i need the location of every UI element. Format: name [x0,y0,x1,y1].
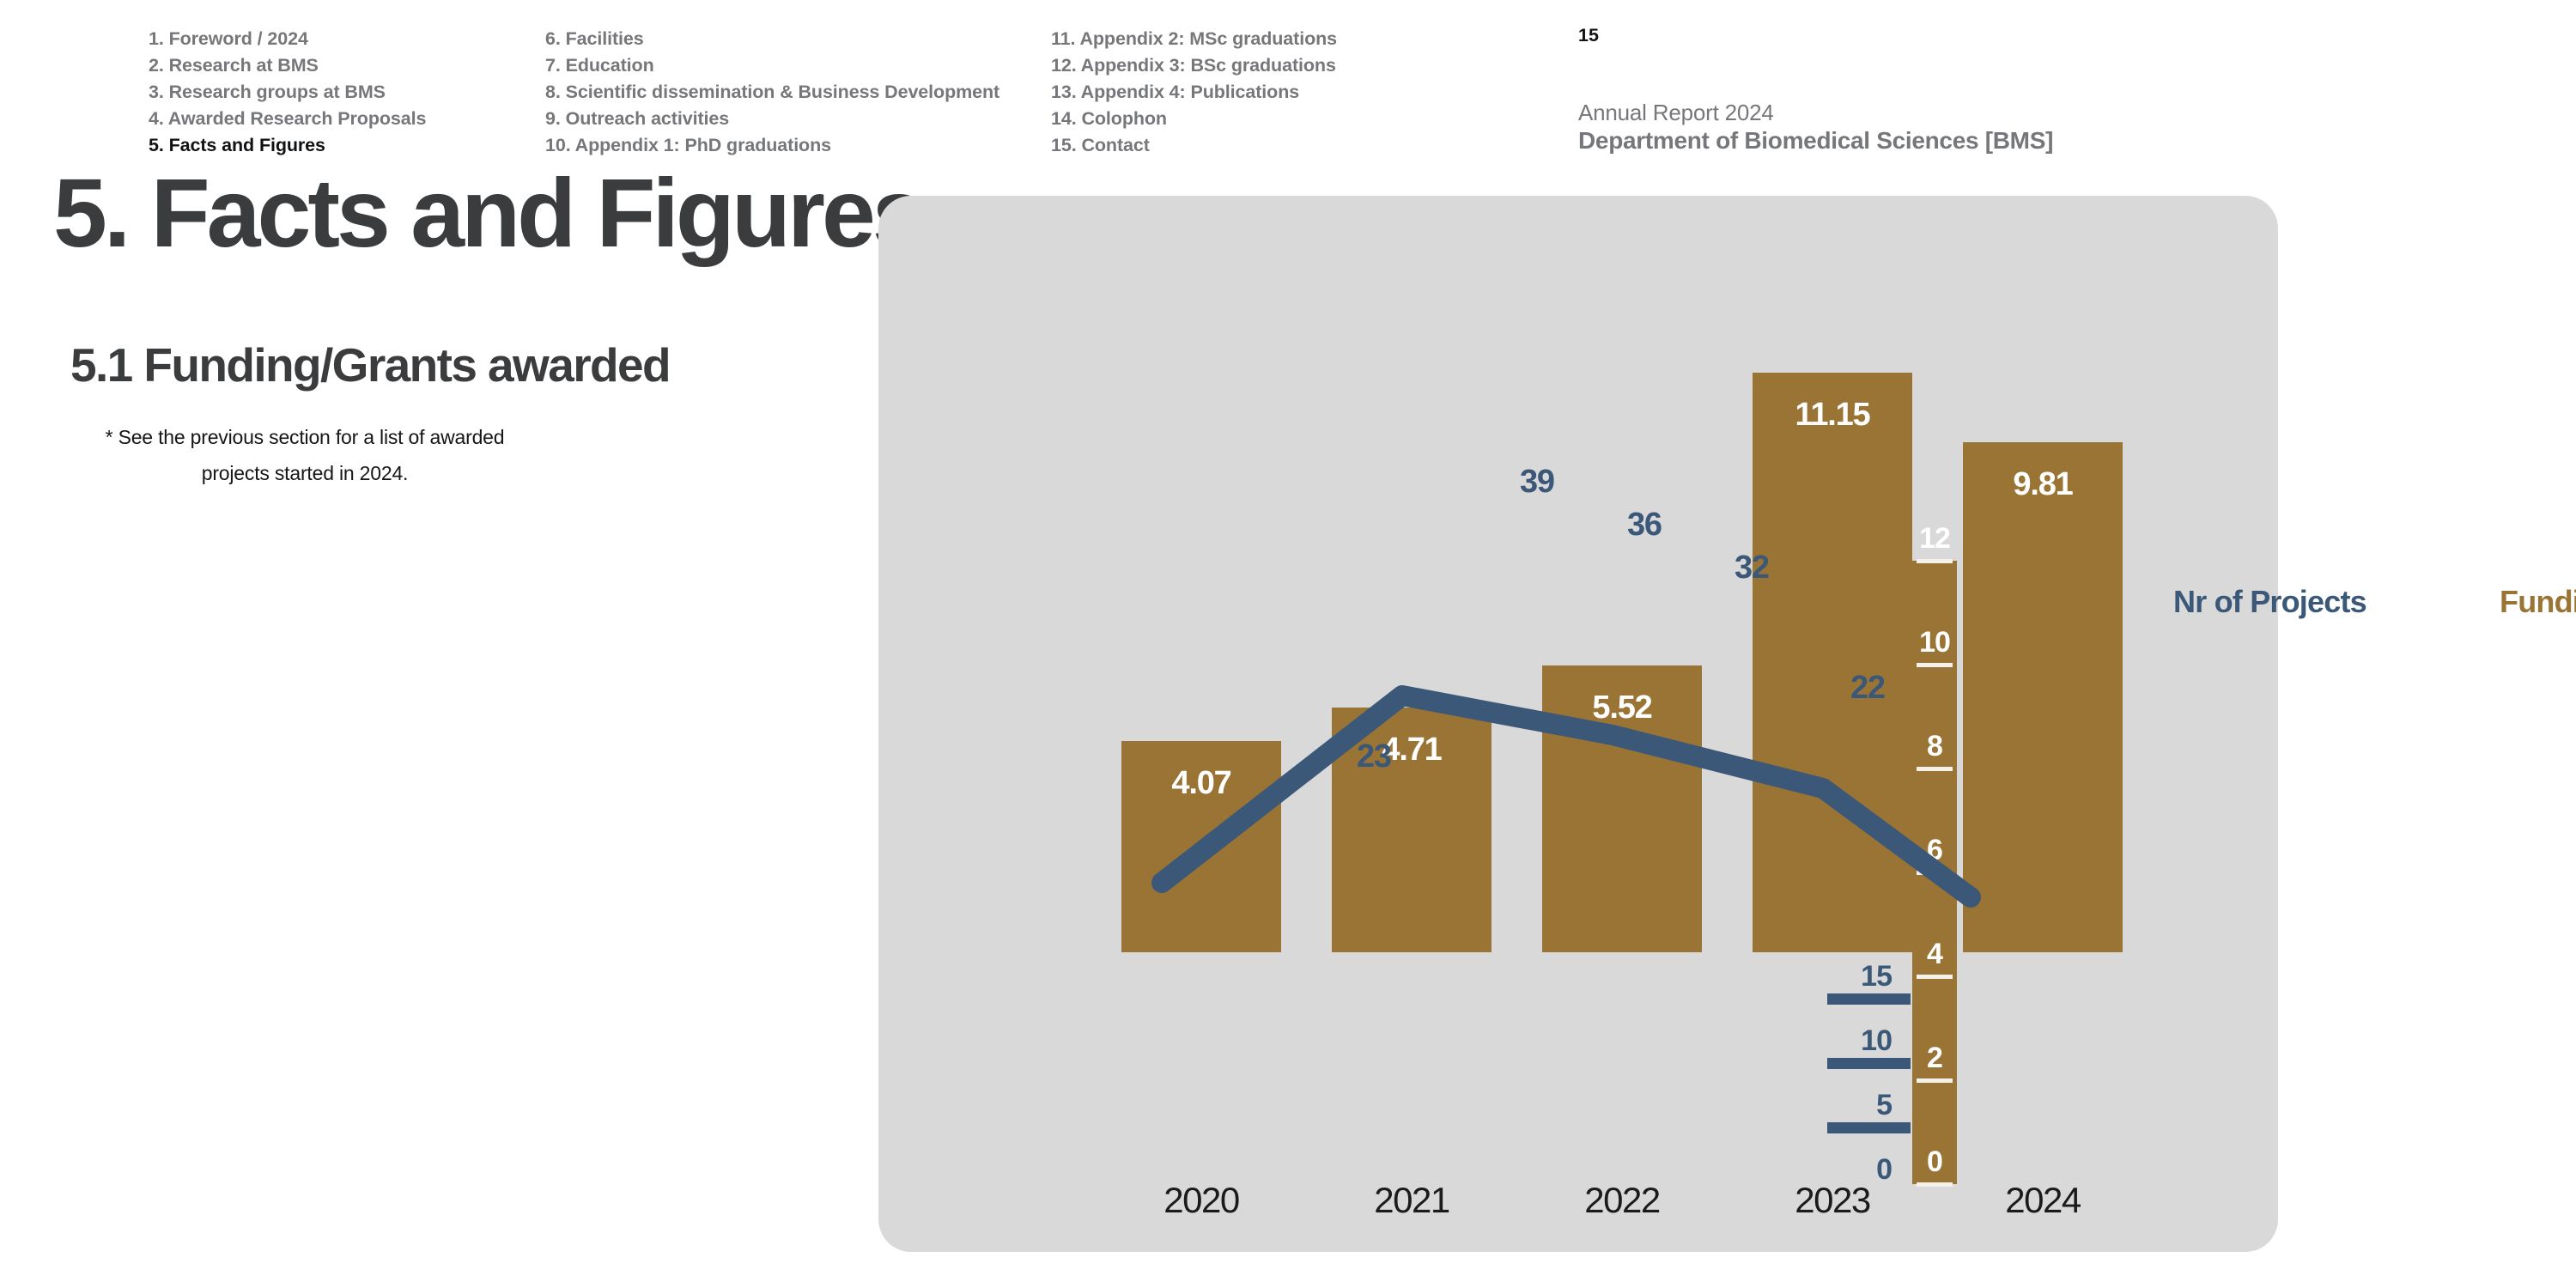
report-identity: Annual Report 2024 Department of Biomedi… [1578,99,2053,155]
toc-item-13[interactable]: 13. Appendix 4: Publications [1051,79,1337,106]
toc-item-9[interactable]: 9. Outreach activities [545,106,999,132]
toc-item-10[interactable]: 10. Appendix 1: PhD graduations [545,132,999,159]
toc-item-6[interactable]: 6. Facilities [545,26,999,52]
toc-item-5-active[interactable]: 5. Facts and Figures [149,132,426,159]
toc-column-3: 11. Appendix 2: MSc graduations 12. Appe… [1051,26,1337,159]
legend-funding-awarded: Funding Awarded in Million € [2500,584,2576,620]
chart-panel: Nr of Projects Funding Awarded in Millio… [878,196,2278,1252]
subsection-title: 5.1 Funding/Grants awarded [70,342,670,389]
report-page: 1. Foreword / 2024 2. Research at BMS 3.… [0,0,2576,1288]
line-path-nr-of-projects [1162,696,1971,897]
toc-item-1[interactable]: 1. Foreword / 2024 [149,26,426,52]
page-number: 15 [1578,25,1599,46]
line-value-2020: 23 [1357,738,1391,775]
table-of-contents: 1. Foreword / 2024 2. Research at BMS 3.… [0,26,2576,155]
toc-item-7[interactable]: 7. Education [545,52,999,79]
chart-plot-area: Nr of Projects Funding Awarded in Millio… [878,196,2278,1252]
line-value-2021: 39 [1520,464,1554,501]
toc-item-14[interactable]: 14. Colophon [1051,106,1337,132]
toc-item-11[interactable]: 11. Appendix 2: MSc graduations [1051,26,1337,52]
toc-item-12[interactable]: 12. Appendix 3: BSc graduations [1051,52,1337,79]
toc-item-4[interactable]: 4. Awarded Research Proposals [149,106,426,132]
toc-item-2[interactable]: 2. Research at BMS [149,52,426,79]
page-title: 5. Facts and Figures [53,165,923,262]
department-name: Department of Biomedical Sciences [BMS] [1578,126,2053,155]
toc-column-2: 6. Facilities 7. Education 8. Scientific… [545,26,999,159]
report-title: Annual Report 2024 [1578,99,2053,126]
line-value-2023: 32 [1735,550,1769,586]
line-series-nr-of-projects [878,196,2278,1252]
toc-item-3[interactable]: 3. Research groups at BMS [149,79,426,106]
toc-column-1: 1. Foreword / 2024 2. Research at BMS 3.… [149,26,426,159]
line-value-2024: 22 [1850,670,1885,707]
toc-item-8[interactable]: 8. Scientific dissemination & Business D… [545,79,999,106]
line-value-2022: 36 [1627,507,1662,544]
toc-item-15[interactable]: 15. Contact [1051,132,1337,159]
footnote-text: * See the previous section for a list of… [94,419,515,491]
